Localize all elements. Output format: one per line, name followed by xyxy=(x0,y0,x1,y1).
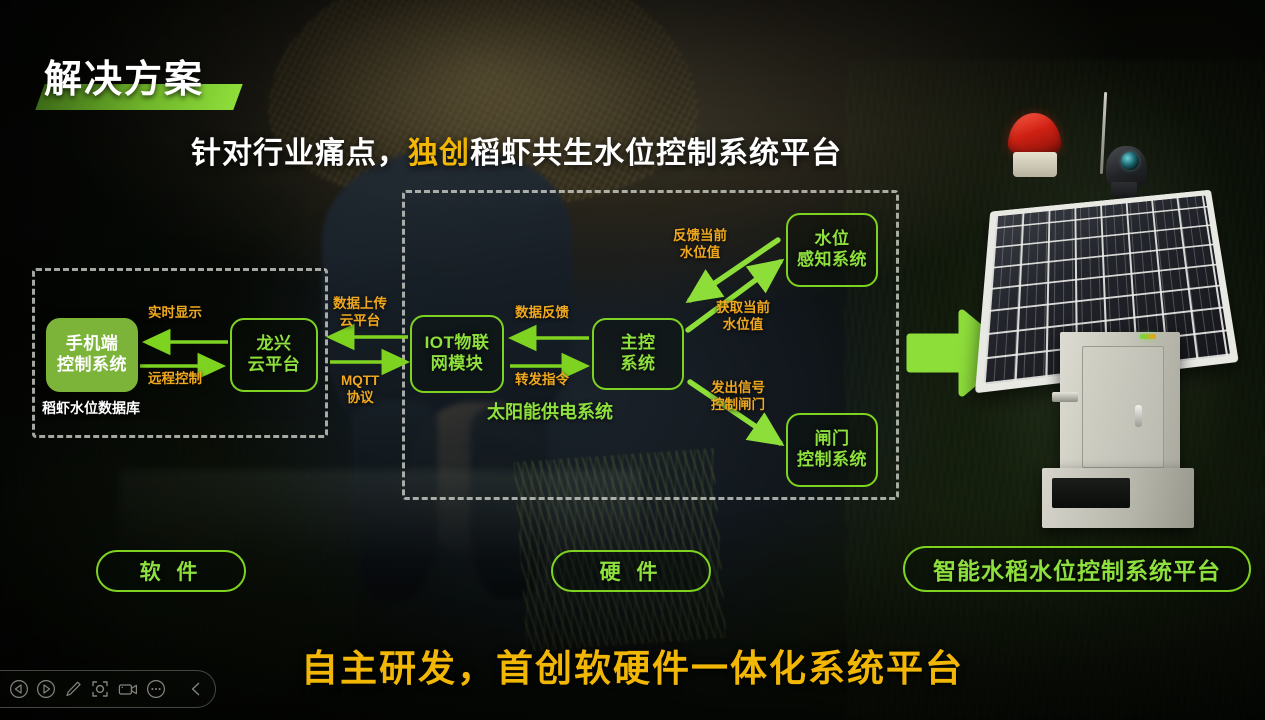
subtitle-suffix: 稻虾共生水位控制系统平台 xyxy=(470,137,842,170)
video-button[interactable] xyxy=(117,677,139,701)
video-camera-icon xyxy=(117,679,139,699)
node-cloud-platform[interactable]: 龙兴云平台 xyxy=(230,318,318,392)
pill-hardware: 硬 件 xyxy=(551,550,711,592)
status-led xyxy=(1140,334,1156,339)
edge-label-signal-gate-control: 发出信号控制闸门 xyxy=(711,380,765,414)
presentation-slide: 解决方案 针对行业痛点，独创稻虾共生水位控制系统平台 xyxy=(0,0,1265,720)
pill-platform-name: 智能水稻水位控制系统平台 xyxy=(903,546,1251,592)
edge-label-data-feedback: 数据反馈 xyxy=(515,305,569,322)
subtitle-prefix: 针对行业痛点， xyxy=(191,137,408,170)
page-subtitle: 针对行业痛点，独创稻虾共生水位控制系统平台 xyxy=(191,128,842,172)
pen-icon xyxy=(63,679,83,699)
circle-left-triangle-icon xyxy=(9,679,29,699)
solar-control-cabinet-photo xyxy=(980,86,1240,556)
node-gate-control-system[interactable]: 闸门控制系统 xyxy=(786,413,878,487)
focus-frame-icon xyxy=(90,679,110,699)
page-title-block: 解决方案 xyxy=(44,48,204,103)
alarm-beacon-base xyxy=(1013,152,1057,177)
next-slide-button[interactable] xyxy=(36,677,56,701)
pen-tool-button[interactable] xyxy=(63,677,83,701)
laser-focus-button[interactable] xyxy=(90,677,110,701)
node-mobile-label: 手机端控制系统 xyxy=(57,334,127,375)
control-cabinet xyxy=(1060,332,1180,484)
solar-power-label: 太阳能供电系统 xyxy=(487,398,613,424)
node-sensor-label: 水位感知系统 xyxy=(797,229,867,270)
node-water-level-sensing-system[interactable]: 水位感知系统 xyxy=(786,213,878,287)
more-options-button[interactable] xyxy=(146,677,166,701)
page-title: 解决方案 xyxy=(44,48,204,103)
edge-label-data-upload-cloud: 数据上传云平台 xyxy=(333,296,387,330)
camera-stand xyxy=(1111,182,1137,198)
node-cloud-label: 龙兴云平台 xyxy=(248,334,301,375)
edge-label-forward-command: 转发指令 xyxy=(515,372,569,389)
previous-slide-button[interactable] xyxy=(9,677,29,701)
subtitle-highlight: 独创 xyxy=(408,137,470,170)
edge-label-feedback-water-level: 反馈当前水位值 xyxy=(673,228,727,262)
edge-label-mqtt-protocol: MQTT协议 xyxy=(341,373,379,407)
node-gate-label: 闸门控制系统 xyxy=(797,429,867,470)
node-iot-module[interactable]: IOT物联网模块 xyxy=(410,315,504,393)
node-main-control-system[interactable]: 主控系统 xyxy=(592,318,684,390)
ellipsis-circle-icon xyxy=(146,679,166,699)
cabinet-door xyxy=(1082,346,1164,468)
pill-software: 软 件 xyxy=(96,550,246,592)
camera-lens xyxy=(1121,152,1139,170)
cabinet-hinge xyxy=(1052,392,1078,402)
edge-label-realtime-display: 实时显示 xyxy=(148,305,202,322)
alarm-beacon-icon xyxy=(1008,113,1061,157)
chevron-left-icon xyxy=(186,679,206,699)
cabinet-lock-icon xyxy=(1135,405,1142,427)
node-main-label: 主控系统 xyxy=(621,333,656,374)
edge-label-remote-control: 远程控制 xyxy=(148,371,202,388)
circle-right-triangle-icon xyxy=(36,679,56,699)
edge-label-get-water-level: 获取当前水位值 xyxy=(716,300,770,334)
node-iot-label: IOT物联网模块 xyxy=(425,333,490,374)
presentation-toolbar[interactable] xyxy=(0,670,216,708)
database-label: 稻虾水位数据库 xyxy=(42,398,140,418)
node-mobile-control-system[interactable]: 手机端控制系统 xyxy=(46,318,138,392)
collapse-toolbar-button[interactable] xyxy=(186,677,206,701)
cabinet-base-slot xyxy=(1052,478,1130,508)
